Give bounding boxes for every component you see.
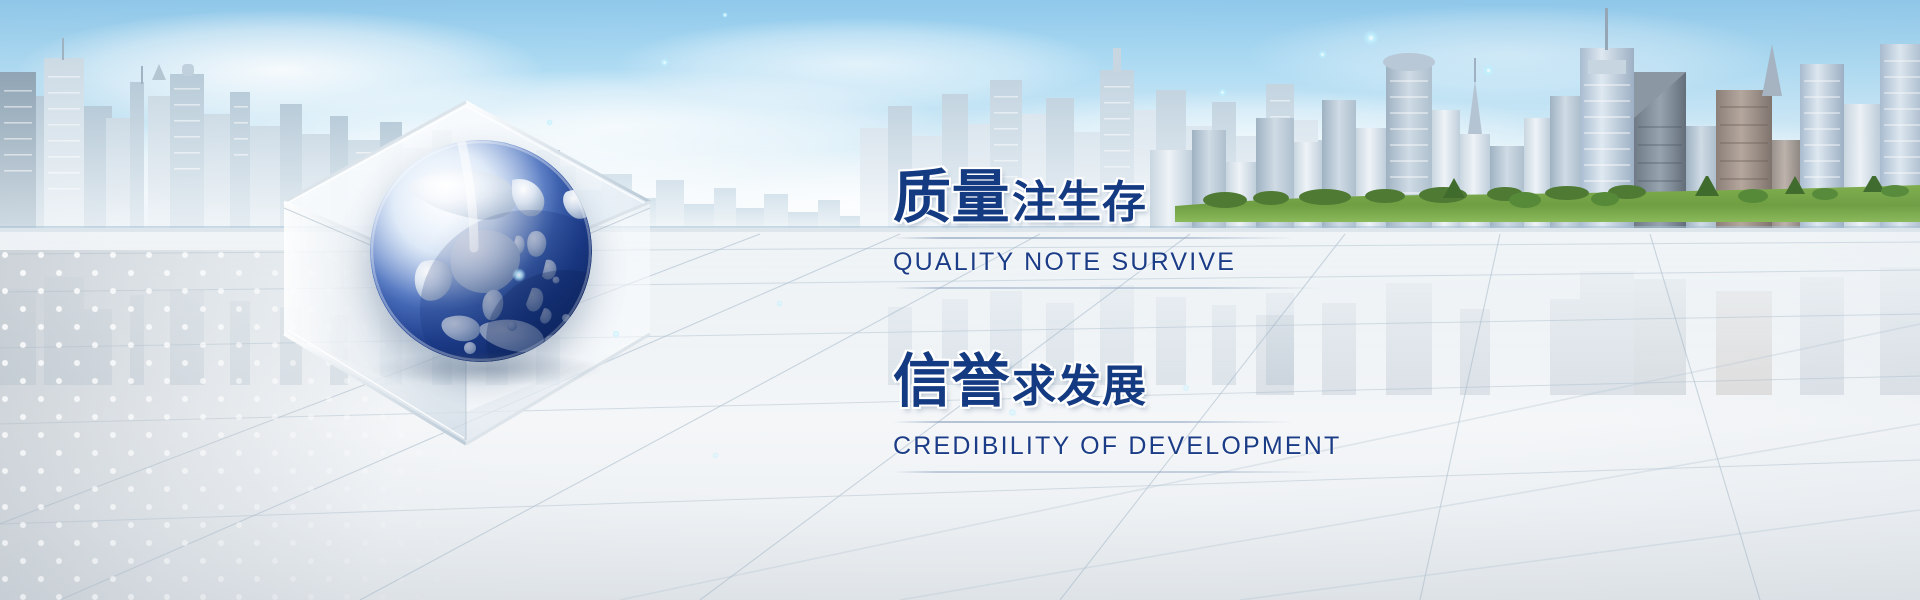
globe-graphic — [370, 140, 592, 362]
divider-1b — [893, 287, 1323, 289]
divider-2b — [893, 471, 1323, 473]
divider-1 — [893, 237, 1293, 239]
slogan-block-2: 信誉求发展 CREDIBILITY OF DEVELOPMENT — [893, 352, 1513, 473]
divider-2 — [893, 421, 1293, 423]
slogan-group: 质量注生存 QUALITY NOTE SURVIVE 信誉求发展 CREDIBI… — [893, 168, 1513, 473]
slogan-cn-1: 质量注生存 — [893, 168, 1513, 226]
slogan-cn-2-rest: 求发展 — [1012, 361, 1147, 412]
slogan-en-2: CREDIBILITY OF DEVELOPMENT — [893, 432, 1513, 461]
slogan-cn-1-rest: 注生存 — [1012, 177, 1147, 228]
slogan-cn-2-emphasis: 信誉 — [893, 347, 1010, 415]
hero-banner: 质量注生存 QUALITY NOTE SURVIVE 信誉求发展 CREDIBI… — [0, 0, 1920, 600]
slogan-block-1: 质量注生存 QUALITY NOTE SURVIVE — [893, 168, 1513, 289]
slogan-en-1: QUALITY NOTE SURVIVE — [893, 248, 1513, 277]
slogan-cn-1-emphasis: 质量 — [893, 163, 1010, 231]
slogan-cn-2: 信誉求发展 — [893, 352, 1513, 410]
